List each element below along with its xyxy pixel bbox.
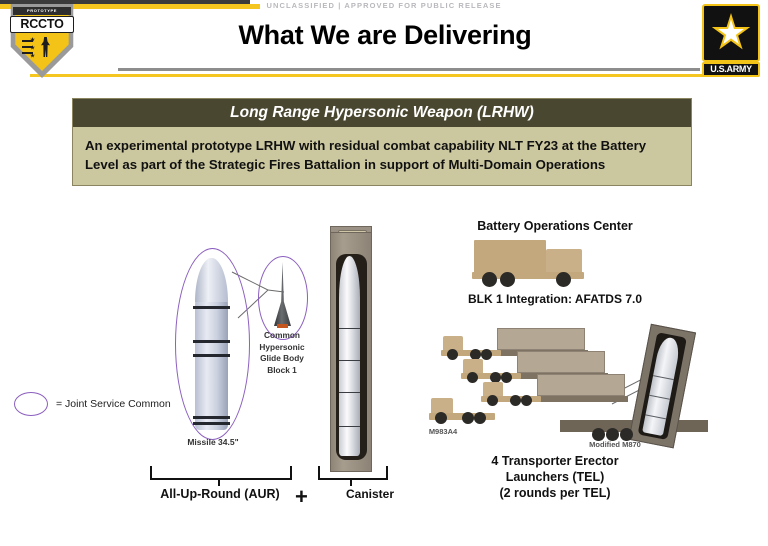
page-title: What We are Delivering bbox=[150, 20, 620, 51]
us-army-wordmark: U.S.ARMY bbox=[702, 62, 760, 77]
shield-bar-3 bbox=[22, 52, 33, 54]
legend-label: = Joint Service Common bbox=[56, 398, 171, 410]
shield-top-band: PROTOTYPE bbox=[13, 7, 71, 15]
canister-missile bbox=[339, 256, 360, 456]
m983-wheel-1 bbox=[435, 412, 447, 424]
erected-missile-ring-2 bbox=[649, 395, 670, 400]
erected-missile-ring-3 bbox=[645, 414, 666, 419]
tel-1-wheel-3 bbox=[481, 349, 492, 360]
aur-label: All-Up-Round (AUR) bbox=[130, 487, 310, 501]
missile-band-4 bbox=[193, 416, 230, 419]
erected-missile-ring-1 bbox=[653, 375, 674, 380]
slide: UNCLASSIFIED | APPROVED FOR PUBLIC RELEA… bbox=[0, 0, 768, 546]
missile-band-1 bbox=[193, 306, 230, 309]
glide-body-label: Common Hypersonic Glide Body Block 1 bbox=[232, 330, 332, 376]
tel-summary-label: 4 Transporter Erector Launchers (TEL) (2… bbox=[430, 453, 680, 501]
canister-missile-ring-3 bbox=[339, 392, 360, 393]
missile-label: Missile 34.5" bbox=[163, 437, 263, 447]
shield-prototype-text: PROTOTYPE bbox=[13, 7, 71, 15]
m983-wheel-3 bbox=[474, 412, 486, 424]
blk-integration-label: BLK 1 Integration: AFATDS 7.0 bbox=[420, 292, 690, 306]
us-army-label: U.S.ARMY bbox=[704, 64, 758, 75]
tel-1-container bbox=[497, 328, 585, 350]
boc-cab bbox=[546, 249, 582, 274]
legend: = Joint Service Common bbox=[14, 392, 171, 416]
missile-band-3 bbox=[193, 354, 230, 357]
canister-label: Canister bbox=[310, 487, 430, 501]
missile-band-5 bbox=[193, 422, 230, 425]
lrhw-callout-box: Long Range Hypersonic Weapon (LRHW) An e… bbox=[72, 98, 692, 186]
joint-service-ellipse-icon bbox=[14, 392, 48, 416]
rccto-shield-logo: PROTOTYPE RCCTO bbox=[8, 4, 76, 78]
plus-sign: + bbox=[295, 484, 308, 510]
shield-acronym-plate: RCCTO bbox=[10, 16, 74, 33]
m870-label: Modified M870 bbox=[560, 440, 670, 449]
us-army-star-logo bbox=[702, 4, 760, 62]
boc-wheel-3 bbox=[556, 272, 571, 287]
glide-body-line-1: Common bbox=[232, 330, 332, 342]
callout-header: Long Range Hypersonic Weapon (LRHW) bbox=[73, 99, 691, 127]
tel-2-container bbox=[517, 351, 605, 373]
glide-body-line-2: Hypersonic bbox=[232, 342, 332, 354]
glide-body-line-4: Block 1 bbox=[232, 365, 332, 377]
tel-3-wheel-3 bbox=[521, 395, 532, 406]
tel-line-1: 4 Transporter Erector bbox=[430, 453, 680, 469]
m983-wheel-2 bbox=[462, 412, 474, 424]
tel-line-2: Launchers (TEL) bbox=[430, 469, 680, 485]
canister-missile-ring-2 bbox=[339, 360, 360, 361]
tel-2-wheel-3 bbox=[501, 372, 512, 383]
canister-brace-tick bbox=[350, 478, 352, 486]
tel-3-wheel-1 bbox=[487, 395, 498, 406]
tel-3-container bbox=[537, 374, 625, 396]
tel-line-3: (2 rounds per TEL) bbox=[430, 485, 680, 501]
tel-3-wheel-2 bbox=[510, 395, 521, 406]
tel-3-bed bbox=[532, 396, 628, 402]
aur-brace-tick bbox=[218, 478, 220, 486]
header-gray-rule bbox=[118, 68, 700, 71]
boc-wheel-2 bbox=[500, 272, 515, 287]
tel-1-wheel-1 bbox=[447, 349, 458, 360]
m983a4-label: M983A4 bbox=[398, 427, 488, 436]
glide-body-base bbox=[277, 324, 288, 328]
callout-body: An experimental prototype LRHW with resi… bbox=[73, 127, 691, 185]
battery-operations-center-label: Battery Operations Center bbox=[430, 219, 680, 233]
tel-2-wheel-1 bbox=[467, 372, 478, 383]
boc-wheel-1 bbox=[482, 272, 497, 287]
missile-band-2 bbox=[193, 340, 230, 343]
header-gold-rule bbox=[30, 74, 730, 77]
canister-missile-ring-4 bbox=[339, 426, 360, 427]
boc-shelter-box bbox=[474, 240, 546, 274]
shield-acronym-text: RCCTO bbox=[11, 17, 73, 31]
canister-missile-ring-1 bbox=[339, 328, 360, 329]
canister-brace bbox=[318, 466, 388, 480]
glide-body-line-3: Glide Body bbox=[232, 353, 332, 365]
callout-heading-text: Long Range Hypersonic Weapon (LRHW) bbox=[230, 104, 534, 121]
callout-body-text: An experimental prototype LRHW with resi… bbox=[85, 136, 679, 174]
aur-brace bbox=[150, 466, 292, 480]
